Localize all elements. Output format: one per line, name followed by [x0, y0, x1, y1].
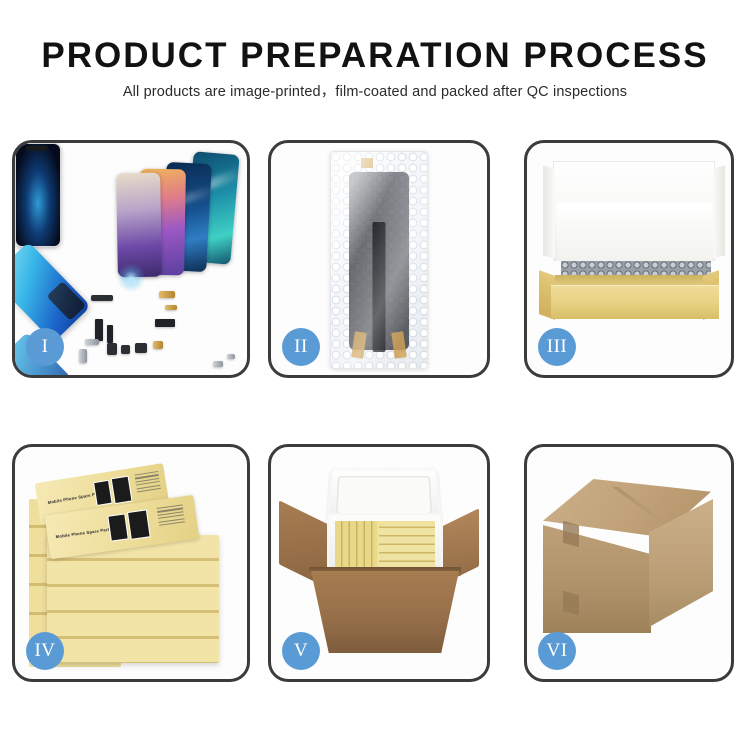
plastic-gloss-overlay — [331, 152, 427, 368]
process-step-1[interactable]: I — [12, 140, 250, 378]
phone-violet-icon — [116, 173, 162, 278]
screw-icon — [213, 361, 223, 367]
spare-part-icon — [121, 345, 130, 354]
spare-part-icon — [85, 339, 99, 345]
flex-cable-icon — [155, 319, 175, 327]
box-window-icon — [111, 476, 133, 504]
foam-sheet-icon — [557, 203, 713, 261]
spare-part-icon — [165, 305, 177, 310]
spare-part-icon — [153, 341, 163, 349]
box-spec-lines — [134, 471, 161, 495]
process-step-grid: I II III — [0, 136, 750, 696]
spare-part-icon — [135, 343, 147, 353]
box-spec-lines — [157, 504, 186, 528]
box-window-icon — [107, 513, 128, 541]
bubble-wrap-bag-icon — [330, 151, 428, 369]
packed-yellow-boxes-icon — [335, 521, 435, 569]
process-step-6[interactable]: VI — [524, 444, 734, 682]
tempered-glass-screen-icon — [15, 143, 61, 247]
process-step-3[interactable]: III — [524, 140, 734, 378]
spare-part-icon — [91, 295, 113, 301]
step-badge-2: II — [282, 328, 320, 366]
tape-strip-icon — [563, 521, 579, 548]
screw-icon — [227, 354, 235, 359]
spare-part-icon — [107, 343, 117, 355]
flex-cable-icon — [107, 325, 113, 343]
carton-left-face — [543, 525, 651, 633]
box-front-panel-icon — [551, 285, 719, 319]
page-title: PRODUCT PREPARATION PROCESS — [0, 38, 750, 73]
spare-part-icon — [159, 291, 175, 298]
header: PRODUCT PREPARATION PROCESS All products… — [0, 0, 750, 100]
flex-cable-icon — [95, 319, 103, 341]
blue-adhesive-film-icon — [15, 242, 91, 343]
carton-front-panel-icon — [311, 571, 459, 653]
process-step-5[interactable]: V — [268, 444, 490, 682]
step-badge-1: I — [26, 328, 64, 366]
box-window-icon — [127, 509, 151, 540]
spare-part-icon — [79, 349, 87, 363]
page-subtitle: All products are image-printed，film-coat… — [0, 85, 750, 100]
step-badge-6: VI — [538, 632, 576, 670]
step-badge-4: IV — [26, 632, 64, 670]
tape-strip-icon — [563, 591, 579, 616]
step-badge-3: III — [538, 328, 576, 366]
step-badge-5: V — [282, 632, 320, 670]
process-step-2[interactable]: II — [268, 140, 490, 378]
process-step-4[interactable]: Mobile Phone Spare Parts Mobile Phone Sp… — [12, 444, 250, 682]
